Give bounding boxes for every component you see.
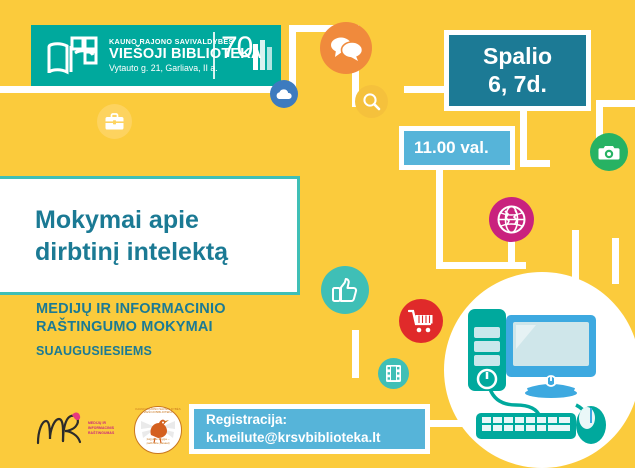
globe-icon (489, 197, 534, 242)
subtitle-line-2: RAŠTINGUMO MOKYMAI (36, 318, 326, 336)
registration-label: Registracija: (206, 411, 425, 429)
film-strip-icon (378, 358, 409, 389)
subtitle-line-3: SUAUGUSIESIEMS (36, 344, 326, 360)
date-days: 6, 7d. (488, 71, 547, 98)
chat-bubbles-icon (320, 22, 372, 74)
subtitle-line-1: MEDIJŲ IR INFORMACINIO (36, 300, 326, 318)
title-panel: Mokymai apie dirbtinį intelektą (0, 176, 300, 295)
seal-caption-line-2: pažinkite pasaulį (136, 441, 180, 445)
connector-line (520, 105, 527, 167)
subtitle-block: MEDIJŲ IR INFORMACINIO RAŠTINGUMO MOKYMA… (36, 300, 326, 360)
title-line-2: dirbtinį intelektą (35, 236, 228, 268)
desktop-computer-icon (466, 305, 618, 445)
open-book-icon (45, 35, 101, 77)
briefcase-icon (97, 104, 132, 139)
thumbs-up-icon (321, 266, 369, 314)
poster-canvas: KAUNO RAJONO SAVIVALDYBĖS VIEŠOJI BIBLIO… (0, 0, 635, 468)
connector-line (0, 86, 296, 93)
search-icon (355, 85, 388, 118)
title-line-1: Mokymai apie (35, 204, 228, 236)
mr-caption-line-3: RAŠTINGUMAS (88, 431, 134, 436)
mr-logo-caption: MEDIJŲ IR INFORMACINIS RAŠTINGUMAS (88, 421, 134, 436)
seal-caption-top: KAUNO RAJONO SAVIVALDYBĖS VIEŠOJI BIBLIO… (133, 408, 183, 414)
connector-line (612, 238, 619, 284)
date-card: Spalio 6, 7d. (444, 30, 591, 111)
cloud-icon (270, 80, 298, 108)
connector-line (436, 158, 443, 268)
books-icon (252, 40, 276, 72)
registration-card: Registracija: k.meilute@krsvbiblioteka.l… (189, 404, 430, 454)
connector-line (520, 160, 550, 167)
page-title: Mokymai apie dirbtinį intelektą (35, 204, 228, 268)
camera-icon (590, 133, 628, 171)
time-card: 11.00 val. (399, 126, 515, 170)
anniversary-number: 70 (221, 33, 252, 63)
connector-line (572, 230, 579, 280)
connector-line (352, 330, 359, 378)
registration-email[interactable]: k.meilute@krsvbiblioteka.lt (206, 429, 425, 447)
shopping-cart-icon (399, 299, 443, 343)
date-month: Spalio (483, 43, 552, 70)
seal-caption-bottom: Įsigykite knyga – pažinkite pasaulį (136, 437, 180, 446)
connector-line (596, 100, 635, 107)
logo-divider (213, 32, 215, 79)
logo-line-address: Vytauto g. 21, Garliava, II a. (109, 64, 262, 73)
connector-line (436, 262, 526, 269)
